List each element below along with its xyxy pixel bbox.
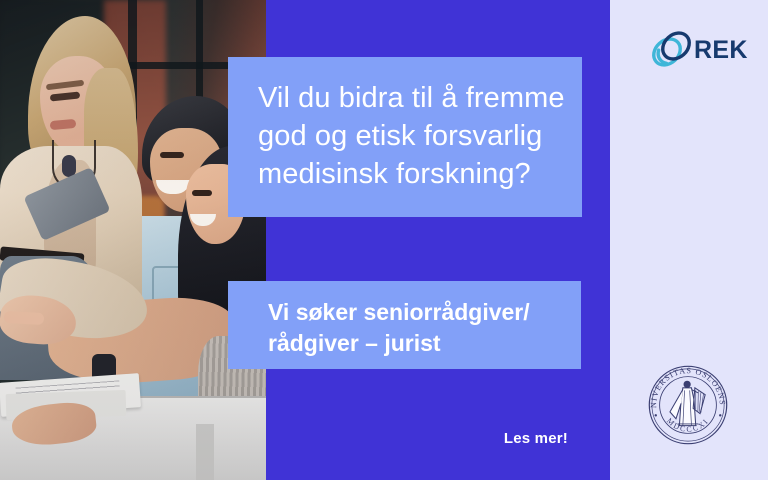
rek-job-advert-banner: Vil du bidra til å fremme god og etisk f… — [0, 0, 768, 480]
job-title-block: Vi søker seniorrådgiver/ rådgiver – juri… — [228, 281, 581, 369]
photo-man-eye — [160, 152, 184, 158]
photo-woman2-eye — [192, 190, 212, 196]
uio-seal-figure-with-harp-icon — [670, 381, 705, 426]
headline-line-1: Vil du bidra til å fremme — [258, 79, 582, 117]
headline-line-3: medisinsk forskning? — [258, 155, 582, 193]
photo-table-leg — [196, 424, 214, 480]
job-title-line-1: Vi søker seniorrådgiver/ — [268, 297, 581, 328]
job-title-line-2: rådgiver – jurist — [268, 328, 581, 359]
rek-interlocking-rings-icon — [650, 27, 694, 71]
photo-pointing-finger — [4, 311, 45, 325]
team-photo — [0, 0, 266, 480]
rek-wordmark: REK — [694, 36, 748, 65]
rek-logo[interactable]: REK — [650, 27, 738, 73]
headline-line-2: god og etisk forsvarlig — [258, 117, 582, 155]
headline-block: Vil du bidra til å fremme god og etisk f… — [228, 57, 582, 217]
uio-seal: UNIVERSITAS OSLOENSIS MDCCCXI — [645, 362, 731, 448]
read-more-link[interactable]: Les mer! — [440, 430, 568, 447]
